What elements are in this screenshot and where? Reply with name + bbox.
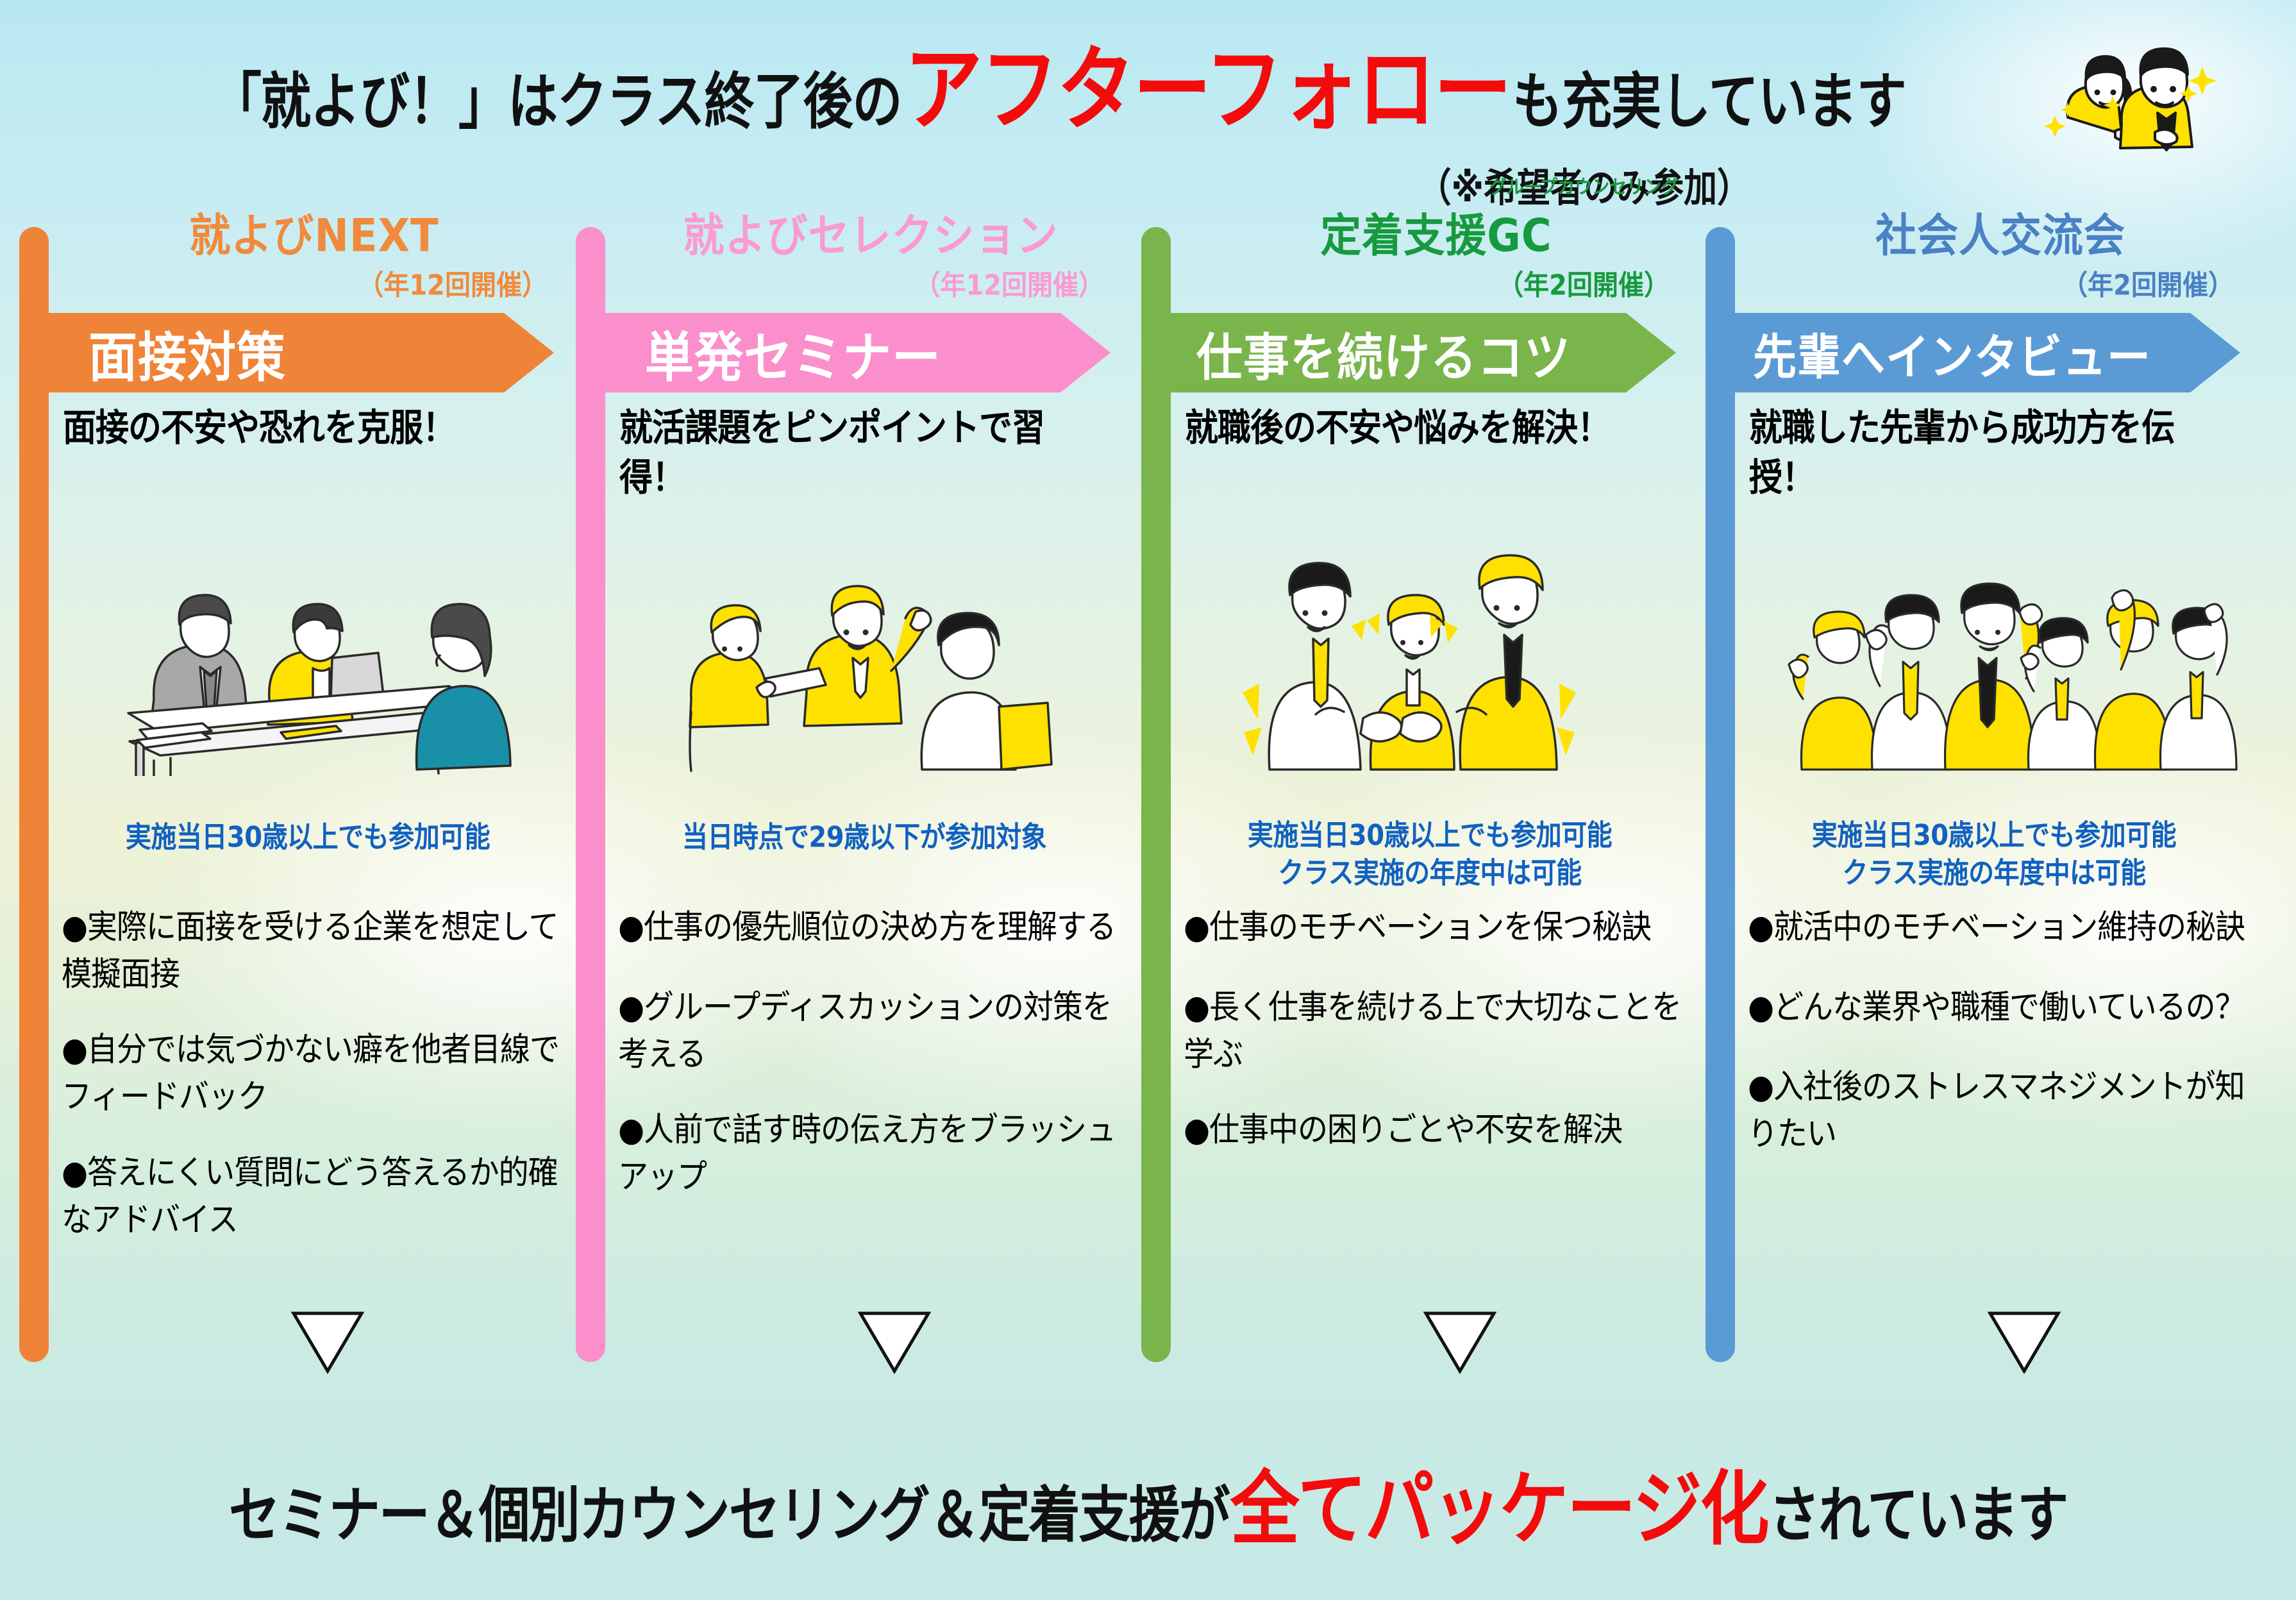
column-banner-label: 仕事を続けるコツ <box>1163 316 1571 390</box>
cheering-group-illustration <box>1744 507 2250 776</box>
column-category: 社会人交流会 （年2回開催） <box>1744 203 2257 301</box>
column-frequency: （年2回開催） <box>1744 263 2257 303</box>
infographic-canvas: 「就よび！」はクラス終了後の アフターフォロー も充実しています （※希望者のみ… <box>0 0 2296 1600</box>
list-item: ●仕事の優先順位の決め方を理解する <box>618 904 1125 951</box>
column-category-text: 定着支援GC <box>1320 210 1552 262</box>
header-headline: 「就よび！」はクラス終了後の アフターフォロー も充実しています <box>212 35 1956 149</box>
column-teichaku-shien-gc: グループカウンセリング 定着支援GC （年2回開催） 仕事を続けるコツ 就職後の… <box>1141 212 1693 1411</box>
handshake-celebration-illustration <box>1180 507 1686 776</box>
column-frequency: （年12回開催） <box>58 263 571 303</box>
header-highlight-text: アフターフォロー <box>904 15 1510 149</box>
list-item: ●実際に面接を受ける企業を想定して模擬面接 <box>62 904 568 998</box>
header-note: （※希望者のみ参加） <box>212 160 1956 208</box>
column-eligibility: 実施当日30歳以上でも参加可能 クラス実施の年度中は可能 <box>1173 817 1686 893</box>
down-triangle-icon <box>1986 1309 2062 1374</box>
smiling-couple-illustration <box>1996 5 2272 191</box>
down-triangle-icon <box>290 1309 365 1374</box>
column-banner-label: 単発セミナー <box>598 314 941 392</box>
column-banner: 単発セミナー <box>598 313 1110 392</box>
column-eligibility: 当日時点で29歳以下が参加対象 <box>608 819 1121 857</box>
column-eligibility: 実施当日30歳以上でも参加可能 <box>51 819 564 857</box>
list-item: ●仕事中の困りごとや不安を解決 <box>1184 1107 1690 1154</box>
column-frequency: （年12回開催） <box>614 263 1127 303</box>
column-tagline: 就職した先輩から成功方を伝授！ <box>1749 404 2236 503</box>
down-triangle-icon <box>857 1309 932 1374</box>
column-category-label: 就よびセレクション <box>683 199 1059 264</box>
column-banner-label: 面接対策 <box>41 314 286 392</box>
column-banner: 先輩へインタビュー <box>1727 313 2240 392</box>
column-category: グループカウンセリング 定着支援GC （年2回開催） <box>1180 203 1693 301</box>
column-bullets: ●仕事の優先順位の決め方を理解する ●グループディスカッションの対策を考える ●… <box>618 904 1125 1230</box>
column-banner: 面接対策 <box>41 313 554 392</box>
column-bullets: ●仕事のモチベーションを保つ秘訣 ●長く仕事を続ける上で大切なことを学ぶ ●仕事… <box>1184 904 1690 1187</box>
interview-panel-illustration <box>58 507 564 776</box>
header-lead-text: 「就よび！」はクラス終了後の <box>212 53 901 140</box>
footer-highlight-text: 全てパッケージ化 <box>1230 1445 1768 1561</box>
column-banner-label: 先輩へインタビュー <box>1727 318 2151 388</box>
column-bullets: ●実際に面接を受ける企業を想定して模擬面接 ●自分では気づかない癖を他者目線でフ… <box>62 904 568 1272</box>
column-shuyobi-next: 就よびNEXT （年12回開催） 面接対策 面接の不安や恐れを克服！ <box>19 212 571 1411</box>
list-item: ●人前で話す時の伝え方をブラッシュアップ <box>618 1107 1125 1201</box>
header-trail-text: も充実しています <box>1513 53 1906 140</box>
list-item: ●入社後のストレスマネジメントが知りたい <box>1748 1064 2254 1158</box>
column-spine <box>1705 227 1735 1362</box>
column-category: 就よびセレクション （年12回開催） <box>614 203 1127 301</box>
column-category-label: 就よびNEXT <box>189 199 439 264</box>
list-item: ●仕事のモチベーションを保つ秘訣 <box>1184 904 1690 951</box>
column-tagline: 就活課題をピンポイントで習得！ <box>619 404 1107 503</box>
footer-lead-text: セミナー＆個別カウンセリング＆定着支援が <box>229 1467 1229 1554</box>
seminar-discussion-illustration <box>614 507 1121 776</box>
column-tagline: 就職後の不安や悩みを解決！ <box>1185 404 1672 453</box>
column-category: 就よびNEXT （年12回開催） <box>58 203 571 301</box>
list-item: ●どんな業界や職種で働いているの？ <box>1748 984 2254 1031</box>
column-banner: 仕事を続けるコツ <box>1163 313 1676 392</box>
column-shakaijin-koryukai: 社会人交流会 （年2回開催） 先輩へインタビュー 就職した先輩から成功方を伝授！ <box>1705 212 2257 1411</box>
column-category-ruby: グループカウンセリング <box>1489 171 1679 199</box>
column-spine <box>1141 227 1171 1362</box>
list-item: ●答えにくい質問にどう答えるか的確なアドバイス <box>62 1150 568 1244</box>
column-category-label: 社会人交流会 <box>1875 199 2125 264</box>
footer-trail-text: されています <box>1769 1467 2068 1554</box>
column-tagline: 面接の不安や恐れを克服！ <box>63 404 550 453</box>
footer: セミナー＆個別カウンセリング＆定着支援が全てパッケージ化されています <box>0 1453 2296 1553</box>
down-triangle-icon <box>1422 1309 1498 1374</box>
column-spine <box>576 227 605 1362</box>
column-bullets: ●就活中のモチベーション維持の秘訣 ●どんな業界や職種で働いているの？ ●入社後… <box>1748 904 2254 1187</box>
column-frequency: （年2回開催） <box>1180 263 1693 303</box>
column-category-label: グループカウンセリング 定着支援GC <box>1320 199 1552 264</box>
column-spine <box>19 227 49 1362</box>
list-item: ●グループディスカッションの対策を考える <box>618 984 1125 1079</box>
column-shuyobi-selection: 就よびセレクション （年12回開催） 単発セミナー 就活課題をピンポイントで習得… <box>576 212 1127 1411</box>
list-item: ●自分では気づかない癖を他者目線でフィードバック <box>62 1027 568 1121</box>
header: 「就よび！」はクラス終了後の アフターフォロー も充実しています （※希望者のみ… <box>212 35 1956 176</box>
list-item: ●長く仕事を続ける上で大切なことを学ぶ <box>1184 984 1690 1079</box>
column-eligibility: 実施当日30歳以上でも参加可能 クラス実施の年度中は可能 <box>1738 817 2250 893</box>
list-item: ●就活中のモチベーション維持の秘訣 <box>1748 904 2254 951</box>
